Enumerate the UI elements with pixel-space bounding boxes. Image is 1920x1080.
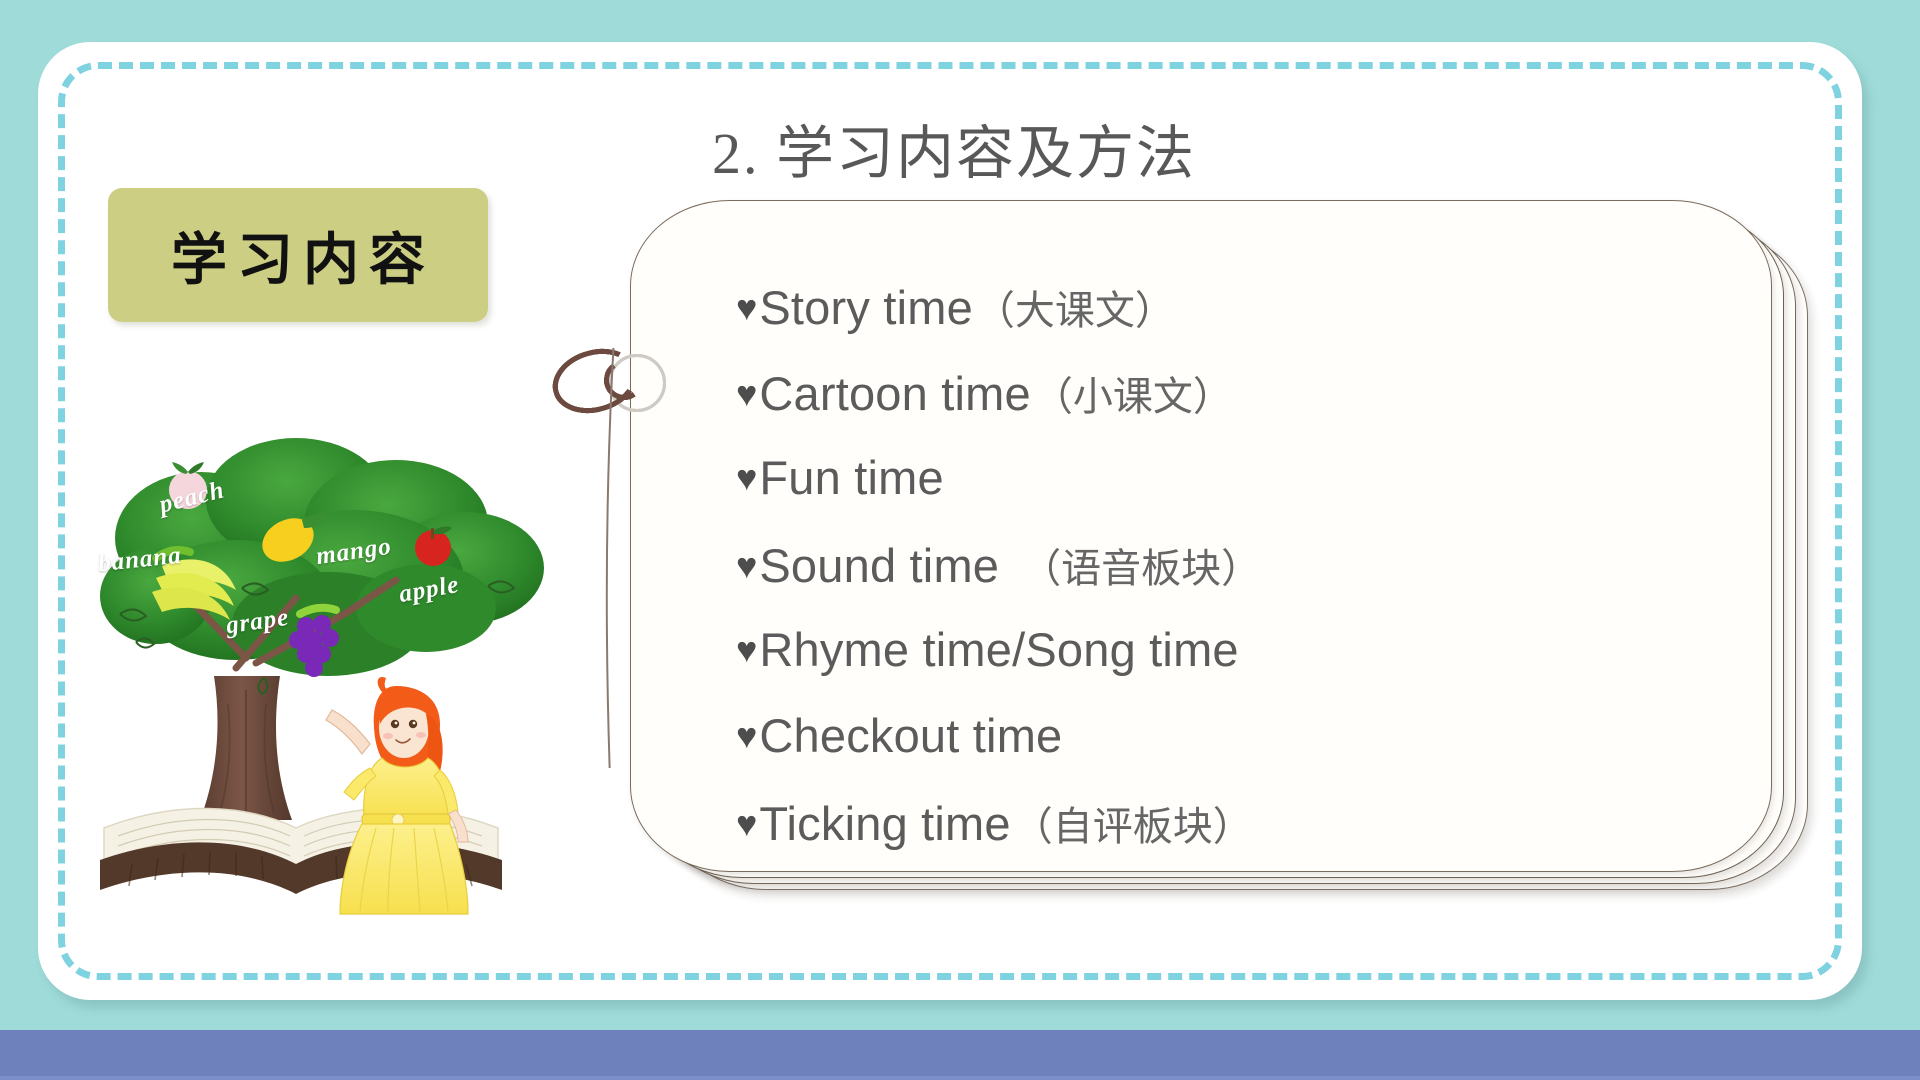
list-item[interactable]: ♥ Rhyme time/Song time — [736, 622, 1556, 708]
list-item-english: Ticking time — [759, 796, 1010, 851]
heart-bullet-icon: ♥ — [736, 376, 757, 412]
heart-bullet-icon: ♥ — [736, 290, 757, 326]
list-item-chinese: （自评板块） — [1013, 794, 1253, 852]
list-item[interactable]: ♥ Ticking time （自评板块） — [736, 794, 1556, 880]
girl-figure — [326, 677, 468, 914]
list-item-english: Story time — [759, 280, 973, 335]
slide-canvas: 2. 学习内容及方法 学习内容 — [0, 0, 1920, 1080]
list-item[interactable]: ♥ Story time （大课文） — [736, 278, 1556, 364]
tree-trunk — [200, 676, 292, 820]
list-item-english: Rhyme time/Song time — [759, 622, 1238, 677]
page-title: 2. 学习内容及方法 — [712, 106, 1196, 190]
list-item[interactable]: ♥ Sound time （语音板块） — [736, 536, 1556, 622]
section-badge: 学习内容 — [108, 188, 488, 322]
list-item-chinese: （语音板块） — [1021, 536, 1261, 594]
heart-bullet-icon: ♥ — [736, 632, 757, 668]
list-item[interactable]: ♥ Cartoon time （小课文） — [736, 364, 1556, 450]
spiral-binding — [552, 348, 692, 768]
list-item-chinese: （大课文） — [975, 278, 1175, 336]
spiral-wire — [552, 348, 692, 768]
heart-bullet-icon: ♥ — [736, 548, 757, 584]
list-item-english: Cartoon time — [759, 366, 1030, 421]
list-item-chinese: （小课文） — [1033, 364, 1233, 422]
list-item[interactable]: ♥ Checkout time — [736, 708, 1556, 794]
section-badge-label: 学习内容 — [161, 215, 435, 296]
heart-bullet-icon: ♥ — [736, 806, 757, 842]
list-item-english: Fun time — [759, 450, 943, 505]
content-list: ♥ Story time （大课文） ♥ Cartoon time （小课文） … — [736, 278, 1556, 880]
heart-bullet-icon: ♥ — [736, 460, 757, 496]
list-item[interactable]: ♥ Fun time — [736, 450, 1556, 536]
bottom-accent-bar-edge — [0, 1076, 1920, 1080]
bottom-accent-bar — [0, 1030, 1920, 1080]
list-item-english: Sound time — [759, 538, 999, 593]
heart-bullet-icon: ♥ — [736, 718, 757, 754]
fruit-tree-illustration: peach banana mango apple grape — [96, 428, 566, 918]
list-item-english: Checkout time — [759, 708, 1062, 763]
